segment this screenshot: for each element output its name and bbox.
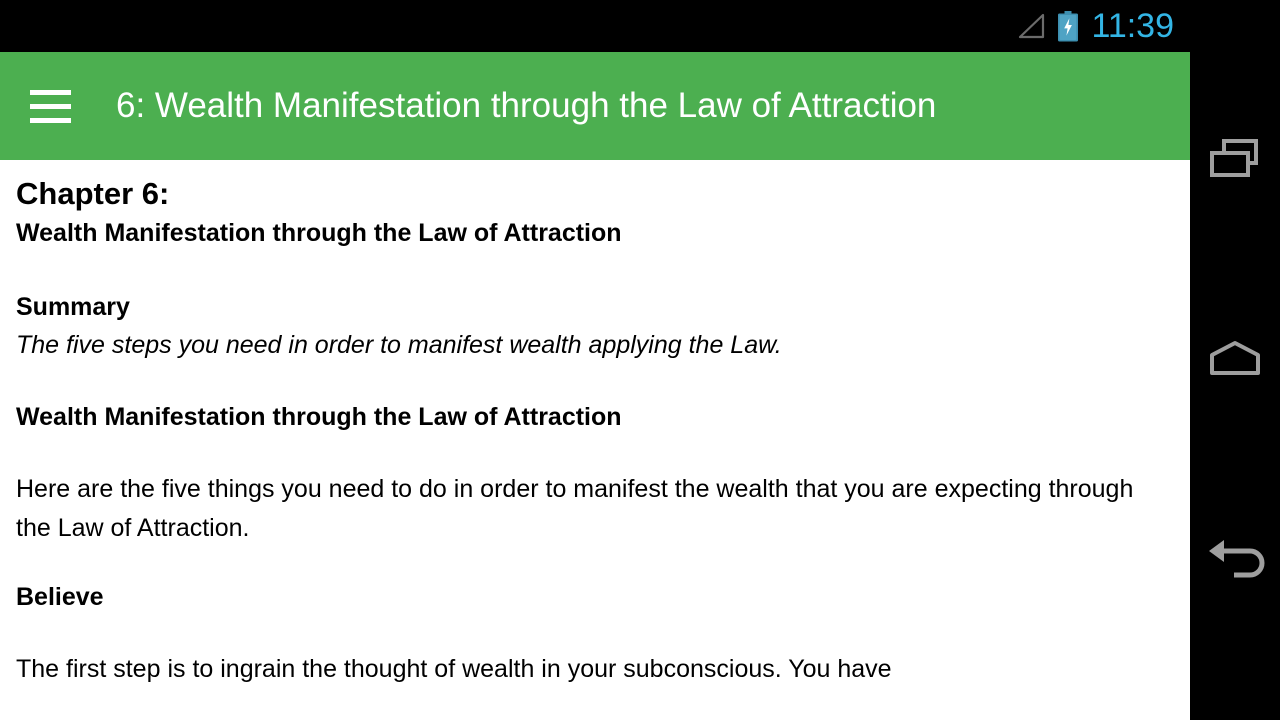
back-icon [1200,531,1270,593]
menu-line-2 [30,104,71,109]
signal-no-service-icon [1016,13,1046,39]
status-icon-group [1016,11,1079,42]
battery-charging-icon [1057,11,1079,42]
chapter-heading: Chapter 6: [16,174,1172,214]
recents-button[interactable] [1190,62,1280,262]
navigation-bar [1190,0,1280,720]
home-button[interactable] [1190,262,1280,462]
app-bar: 6: Wealth Manifestation through the Law … [0,52,1190,160]
home-icon [1204,331,1266,393]
app-bar-title: 6: Wealth Manifestation through the Law … [116,86,936,126]
status-bar: 11:39 [0,0,1190,52]
spacer [16,548,1172,578]
believe-paragraph: The first step is to ingrain the thought… [16,650,1172,689]
believe-heading: Believe [16,578,1172,616]
chapter-subheading: Wealth Manifestation through the Law of … [16,214,1172,252]
android-screen: 11:39 6: Wealth Manifestation through th… [0,0,1280,720]
spacer [16,364,1172,398]
summary-label: Summary [16,288,1172,326]
summary-text: The five steps you need in order to mani… [16,326,1172,364]
menu-line-3 [30,118,71,123]
spacer [16,616,1172,650]
spacer [16,436,1172,470]
section-heading: Wealth Manifestation through the Law of … [16,398,1172,436]
hamburger-menu-icon[interactable] [12,52,88,160]
menu-line-1 [30,90,71,95]
status-bar-clock: 11:39 [1091,9,1174,43]
intro-paragraph: Here are the five things you need to do … [16,470,1172,548]
recents-icon [1204,131,1266,193]
chapter-content[interactable]: Chapter 6: Wealth Manifestation through … [0,160,1190,720]
back-button[interactable] [1190,462,1280,662]
spacer [16,252,1172,288]
